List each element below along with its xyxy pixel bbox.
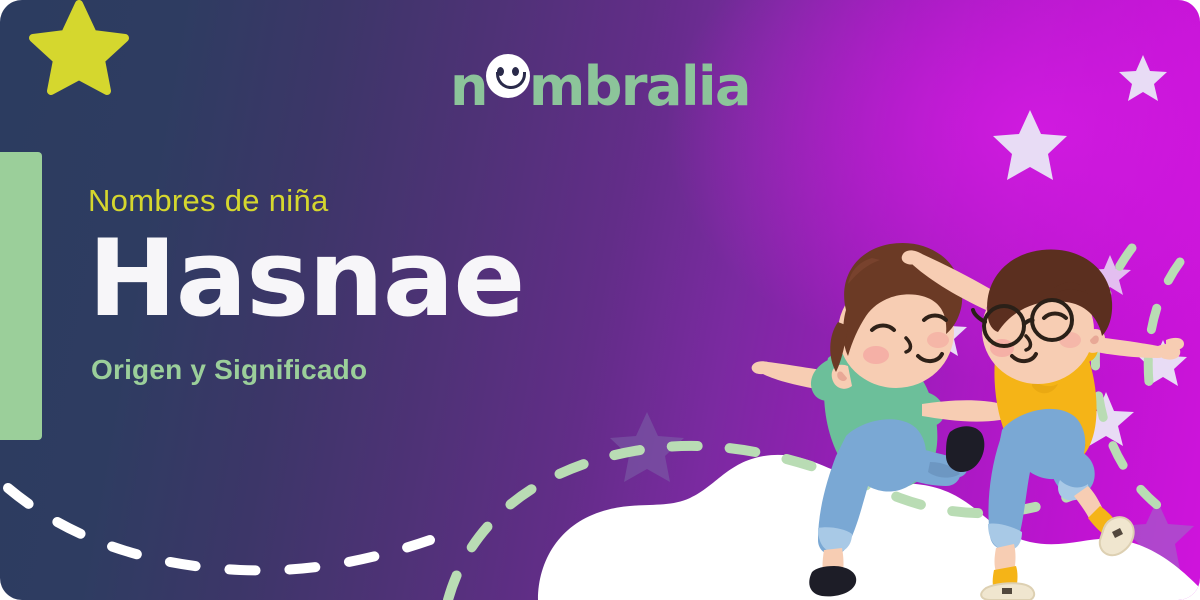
page-subtitle: Origen y Significado xyxy=(91,353,688,387)
site-logo[interactable]: nmbralia xyxy=(0,54,1200,116)
smiley-face-icon xyxy=(486,54,530,98)
category-kicker: Nombres de niña xyxy=(88,182,688,221)
hero-banner: nmbralia Nombres de niña Hasnae Origen y… xyxy=(0,0,1200,600)
logo-text-before: n xyxy=(450,56,487,118)
page-title: Hasnae xyxy=(88,223,688,335)
hero-text-block: Nombres de niña Hasnae Origen y Signific… xyxy=(88,182,688,387)
logo-text-after: mbralia xyxy=(529,56,750,118)
